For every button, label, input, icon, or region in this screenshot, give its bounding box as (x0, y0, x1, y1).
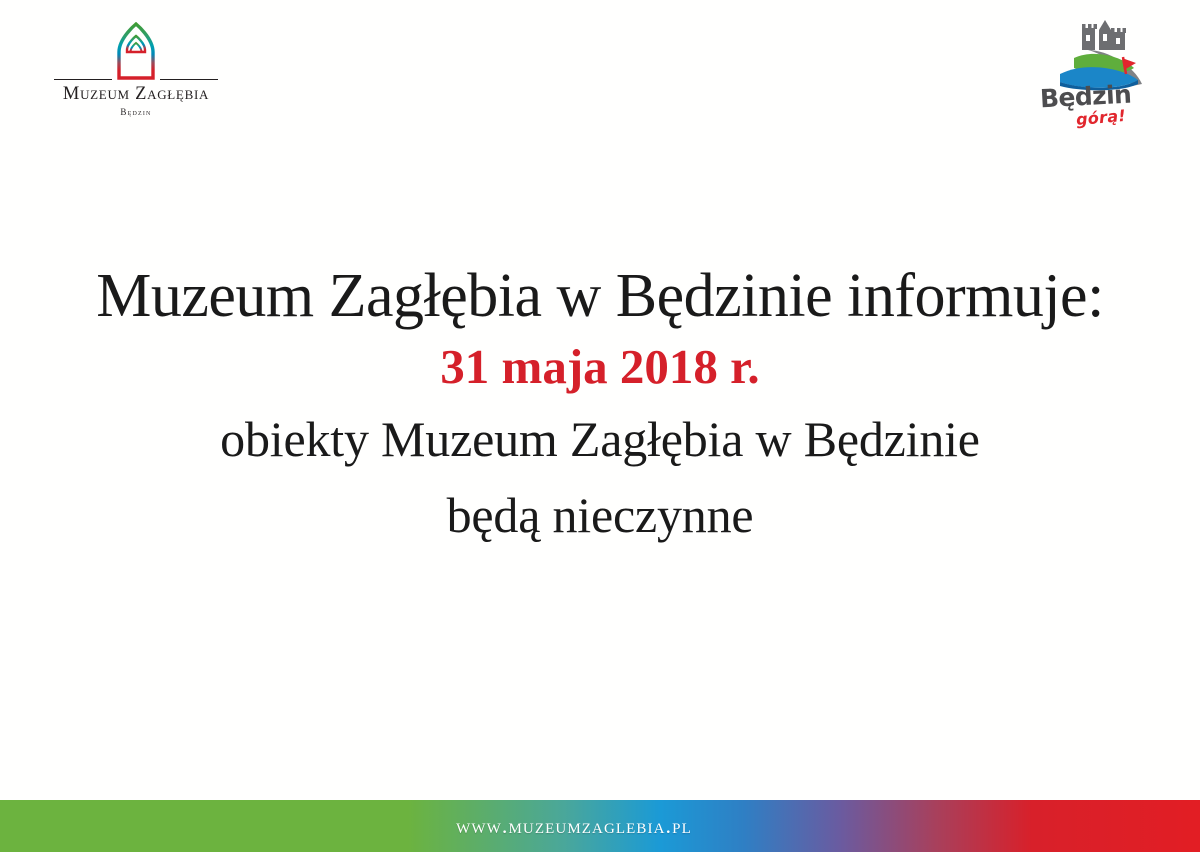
announcement-line-status: będą nieczynne (0, 477, 1200, 555)
footer-bar: www.muzeumzaglebia.pl (0, 800, 1200, 852)
announcement-block: Muzeum Zagłębia w Będzinie informuje: 31… (0, 262, 1200, 555)
poster-canvas: Muzeum Zagłębia Będzin (0, 0, 1200, 852)
announcement-line-subject: obiekty Muzeum Zagłębia w Będzinie (0, 402, 1200, 477)
website-url[interactable]: www.muzeumzaglebia.pl (456, 813, 692, 839)
museum-logo: Muzeum Zagłębia Będzin (46, 22, 226, 117)
city-logo: Będzin górą! (1038, 16, 1158, 128)
museum-logo-wordmark: Muzeum Zagłębia (46, 85, 226, 104)
logo-rule-left (54, 79, 112, 81)
museum-logo-subword: Będzin (46, 107, 226, 117)
announcement-line-intro: Muzeum Zagłębia w Będzinie informuje: (0, 262, 1200, 331)
logo-rule-right (160, 79, 218, 81)
museum-logo-mark (46, 22, 226, 84)
gothic-window-icon (113, 22, 159, 87)
announcement-line-date: 31 maja 2018 r. (0, 331, 1200, 402)
city-logo-slogan: górą! (1075, 106, 1126, 129)
